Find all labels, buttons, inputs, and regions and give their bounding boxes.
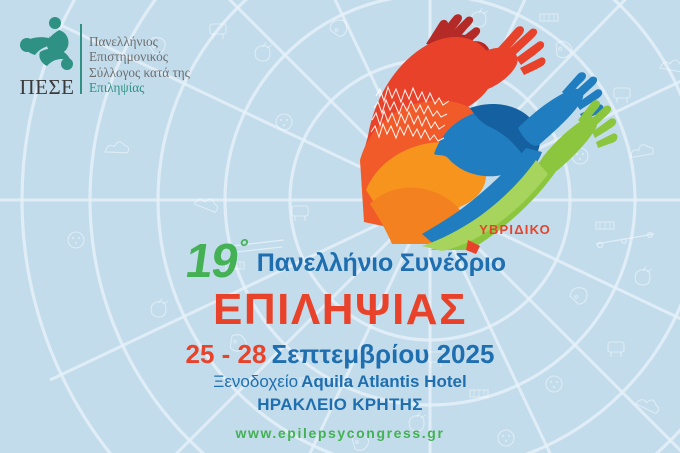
dates-month-year: Σεπτεμβρίου 2025 <box>271 339 494 369</box>
venue-name: Aquila Atlantis Hotel <box>301 372 467 391</box>
logo-line-2: Επιστημονικός <box>89 49 190 65</box>
edition-line: 19°Πανελλήνιο Συνέδριο <box>0 234 680 289</box>
logo-divider <box>80 24 82 94</box>
logo-acronym: ΠΕΣΕ <box>18 77 76 98</box>
dates-line: 25 - 28Σεπτεμβρίου 2025 <box>0 339 680 370</box>
logo-text-block: Πανελλήνιος Επιστημονικός Σύλλογος κατά … <box>89 34 190 98</box>
logo-line-1: Πανελλήνιος <box>89 34 190 50</box>
venue-line: ΞενοδοχείοAquila Atlantis Hotel <box>0 372 680 392</box>
page-title: ΕΠΙΛΗΨΙΑΣ <box>0 285 680 335</box>
pese-logo: ΠΕΣΕ Πανελλήνιος Επιστημονικός Σύλλογος … <box>18 14 190 98</box>
venue-city: ΗΡΑΚΛΕΙΟ ΚΡΗΤΗΣ <box>0 395 680 415</box>
venue-prefix: Ξενοδοχείο <box>213 372 298 391</box>
logo-line-highlight: Επιληψίας <box>89 80 190 96</box>
dates-days: 25 - 28 <box>186 339 267 369</box>
hands-face-artwork <box>330 8 620 258</box>
edition-number: 19 <box>182 234 241 289</box>
pese-logo-mark: ΠΕΣΕ <box>18 14 76 98</box>
conference-subtitle: Πανελλήνιο Συνέδριο <box>257 249 506 278</box>
website-url[interactable]: www.epilepsycongress.gr <box>0 425 680 441</box>
logo-line-3: Σύλλογος κατά της <box>89 65 190 81</box>
conference-poster: ΠΕΣΕ Πανελλήνιος Επιστημονικός Σύλλογος … <box>0 0 680 453</box>
